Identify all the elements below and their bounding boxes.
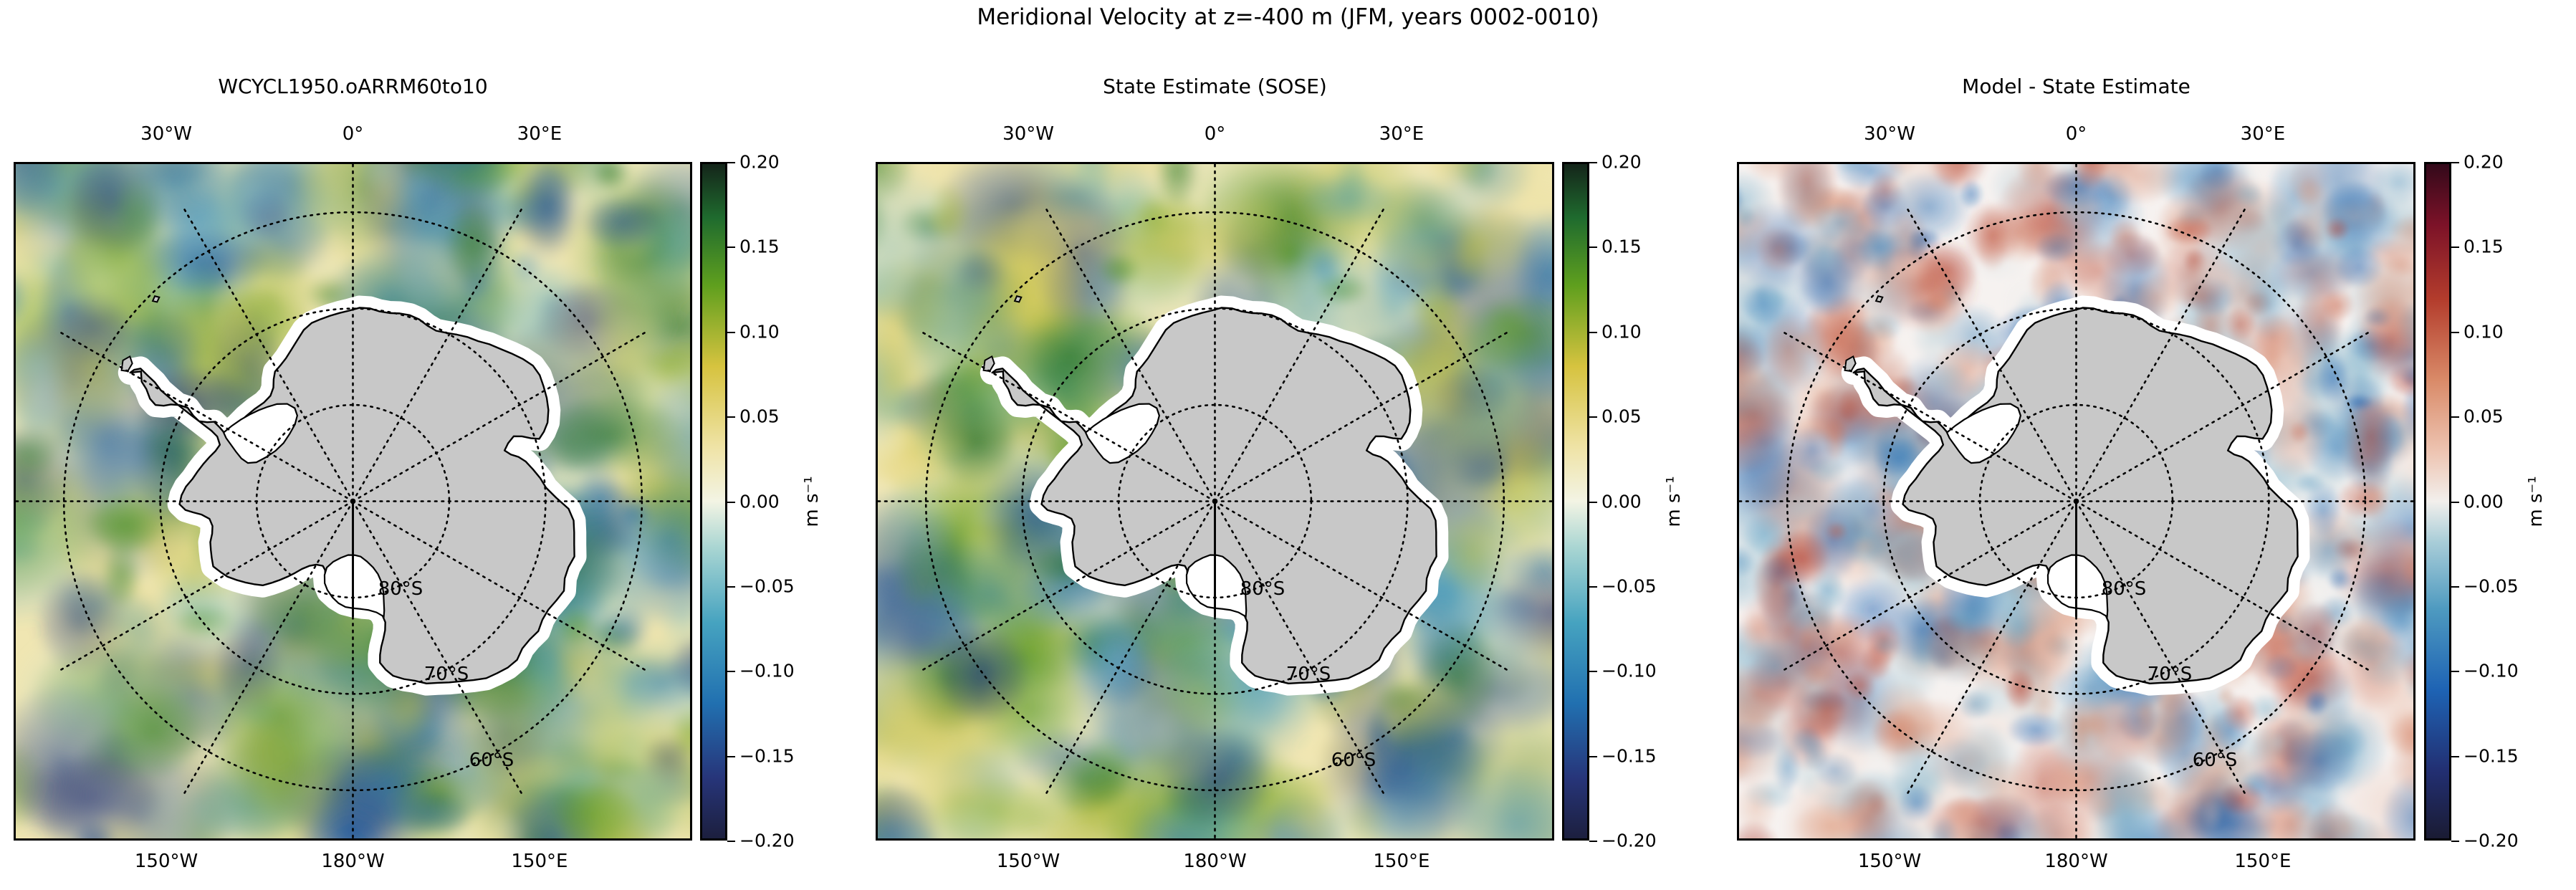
colorbar-tickmark-difference-7	[2451, 756, 2459, 757]
colorbar-tickmark-sose-8	[1589, 841, 1597, 842]
lat-tick-difference-0: 80°S	[2102, 578, 2147, 600]
lon-tick-bottom-difference-1: 180°W	[2044, 851, 2107, 872]
antarctica-landmass-difference	[1739, 164, 2413, 838]
lon-tick-top-model-0: 30°W	[140, 123, 192, 145]
colorbar-tickmark-model-1	[727, 247, 735, 248]
colorbar-tickmark-difference-0	[2451, 162, 2459, 163]
colorbar-ticklabel-sose-1: 0.15	[1601, 236, 1642, 257]
colorbar-ticklabel-model-2: 0.10	[739, 321, 780, 342]
colorbar-ticklabel-difference-5: −0.05	[2464, 575, 2519, 596]
lon-tick-bottom-model-0: 150°W	[135, 851, 198, 872]
colorbar-tickmark-model-0	[727, 162, 735, 163]
colorbar-ticklabel-difference-1: 0.15	[2464, 236, 2504, 257]
lon-tick-top-sose-2: 30°E	[1379, 123, 1425, 145]
lon-tick-top-difference-1: 0°	[2066, 123, 2087, 145]
colorbar-tickmark-model-7	[727, 756, 735, 757]
colorbar-sose[interactable]	[1562, 162, 1589, 841]
colorbar-tickmark-difference-3	[2451, 416, 2459, 418]
colorbar-tickmark-sose-2	[1589, 332, 1597, 333]
colorbar-ticklabel-sose-6: −0.10	[1601, 661, 1657, 681]
lon-tick-top-difference-2: 30°E	[2241, 123, 2286, 145]
colorbar-ticklabel-sose-2: 0.10	[1601, 321, 1642, 342]
colorbar-tickmark-sose-5	[1589, 586, 1597, 588]
colorbar-ticklabel-model-4: 0.00	[739, 491, 780, 512]
colorbar-ticklabel-difference-6: −0.10	[2464, 661, 2519, 681]
lon-tick-bottom-model-2: 150°E	[511, 851, 568, 872]
colorbar-tickmark-sose-1	[1589, 247, 1597, 248]
colorbar-tickmark-sose-0	[1589, 162, 1597, 163]
colorbar-ticklabel-model-0: 0.20	[739, 152, 780, 173]
colorbar-axis-label-difference: m s⁻¹	[2525, 476, 2547, 527]
lon-tick-bottom-difference-2: 150°E	[2234, 851, 2291, 872]
colorbar-ticklabel-sose-0: 0.20	[1601, 152, 1642, 173]
colorbar-ticklabel-difference-3: 0.05	[2464, 406, 2504, 427]
colorbar-difference[interactable]	[2424, 162, 2451, 841]
lon-tick-top-model-1: 0°	[343, 123, 364, 145]
colorbar-tickmark-difference-2	[2451, 332, 2459, 333]
colorbar-tickmark-model-8	[727, 841, 735, 842]
colorbar-tickmark-difference-5	[2451, 586, 2459, 588]
colorbar-tickmark-model-3	[727, 416, 735, 418]
lat-tick-model-0: 80°S	[378, 578, 423, 600]
lon-tick-top-sose-0: 30°W	[1002, 123, 1054, 145]
lon-tick-bottom-difference-0: 150°W	[1858, 851, 1921, 872]
panel-title-sose: State Estimate (SOSE)	[876, 75, 1554, 98]
panel-title-difference: Model - State Estimate	[1737, 75, 2415, 98]
colorbar-ticklabel-model-3: 0.05	[739, 406, 780, 427]
colorbar-ticklabel-sose-3: 0.05	[1601, 406, 1642, 427]
figure-root: Meridional Velocity at z=-400 m (JFM, ye…	[0, 0, 2576, 890]
map-axes-sose[interactable]: 80°S70°S60°S	[876, 162, 1554, 841]
antarctica-landmass-sose	[878, 164, 1552, 838]
colorbar-tickmark-sose-6	[1589, 671, 1597, 672]
colorbar-ticklabel-model-7: −0.15	[739, 745, 795, 766]
lon-tick-top-model-2: 30°E	[517, 123, 562, 145]
colorbar-ticklabel-difference-4: 0.00	[2464, 491, 2504, 512]
lon-tick-bottom-sose-0: 150°W	[997, 851, 1060, 872]
colorbar-tickmark-difference-4	[2451, 502, 2459, 503]
lon-tick-bottom-sose-2: 150°E	[1373, 851, 1430, 872]
figure-suptitle: Meridional Velocity at z=-400 m (JFM, ye…	[0, 4, 2576, 30]
lon-tick-top-difference-0: 30°W	[1864, 123, 1915, 145]
lat-tick-sose-1: 70°S	[1286, 664, 1331, 685]
lat-tick-model-1: 70°S	[424, 664, 469, 685]
lat-tick-difference-2: 60°S	[2193, 750, 2238, 771]
lat-tick-model-2: 60°S	[469, 750, 514, 771]
lat-tick-sose-2: 60°S	[1331, 750, 1376, 771]
colorbar-axis-label-model: m s⁻¹	[801, 476, 823, 527]
colorbar-ticklabel-difference-0: 0.20	[2464, 152, 2504, 173]
colorbar-ticklabel-sose-5: −0.05	[1601, 575, 1657, 596]
lon-tick-bottom-sose-1: 180°W	[1183, 851, 1246, 872]
colorbar-ticklabel-model-6: −0.10	[739, 661, 795, 681]
colorbar-ticklabel-model-5: −0.05	[739, 575, 795, 596]
colorbar-ticklabel-sose-7: −0.15	[1601, 745, 1657, 766]
colorbar-tickmark-difference-1	[2451, 247, 2459, 248]
colorbar-ticklabel-sose-8: −0.20	[1601, 831, 1657, 851]
lon-tick-bottom-model-1: 180°W	[321, 851, 384, 872]
panel-title-model: WCYCL1950.oARRM60to10	[14, 75, 692, 98]
colorbar-tickmark-sose-4	[1589, 502, 1597, 503]
colorbar-ticklabel-model-1: 0.15	[739, 236, 780, 257]
colorbar-ticklabel-difference-7: −0.15	[2464, 745, 2519, 766]
colorbar-tickmark-sose-3	[1589, 416, 1597, 418]
colorbar-tickmark-model-5	[727, 586, 735, 588]
colorbar-tickmark-model-2	[727, 332, 735, 333]
colorbar-tickmark-model-4	[727, 502, 735, 503]
lon-tick-top-sose-1: 0°	[1205, 123, 1226, 145]
lat-tick-sose-0: 80°S	[1240, 578, 1285, 600]
colorbar-model[interactable]	[700, 162, 727, 841]
antarctica-landmass-model	[16, 164, 690, 838]
colorbar-ticklabel-model-8: −0.20	[739, 831, 795, 851]
map-axes-difference[interactable]: 80°S70°S60°S	[1737, 162, 2415, 841]
map-axes-model[interactable]: 80°S70°S60°S	[14, 162, 692, 841]
colorbar-axis-label-sose: m s⁻¹	[1663, 476, 1685, 527]
colorbar-tickmark-model-6	[727, 671, 735, 672]
lat-tick-difference-1: 70°S	[2148, 664, 2193, 685]
colorbar-tickmark-difference-8	[2451, 841, 2459, 842]
colorbar-ticklabel-difference-8: −0.20	[2464, 831, 2519, 851]
colorbar-ticklabel-sose-4: 0.00	[1601, 491, 1642, 512]
colorbar-ticklabel-difference-2: 0.10	[2464, 321, 2504, 342]
colorbar-tickmark-difference-6	[2451, 671, 2459, 672]
colorbar-tickmark-sose-7	[1589, 756, 1597, 757]
